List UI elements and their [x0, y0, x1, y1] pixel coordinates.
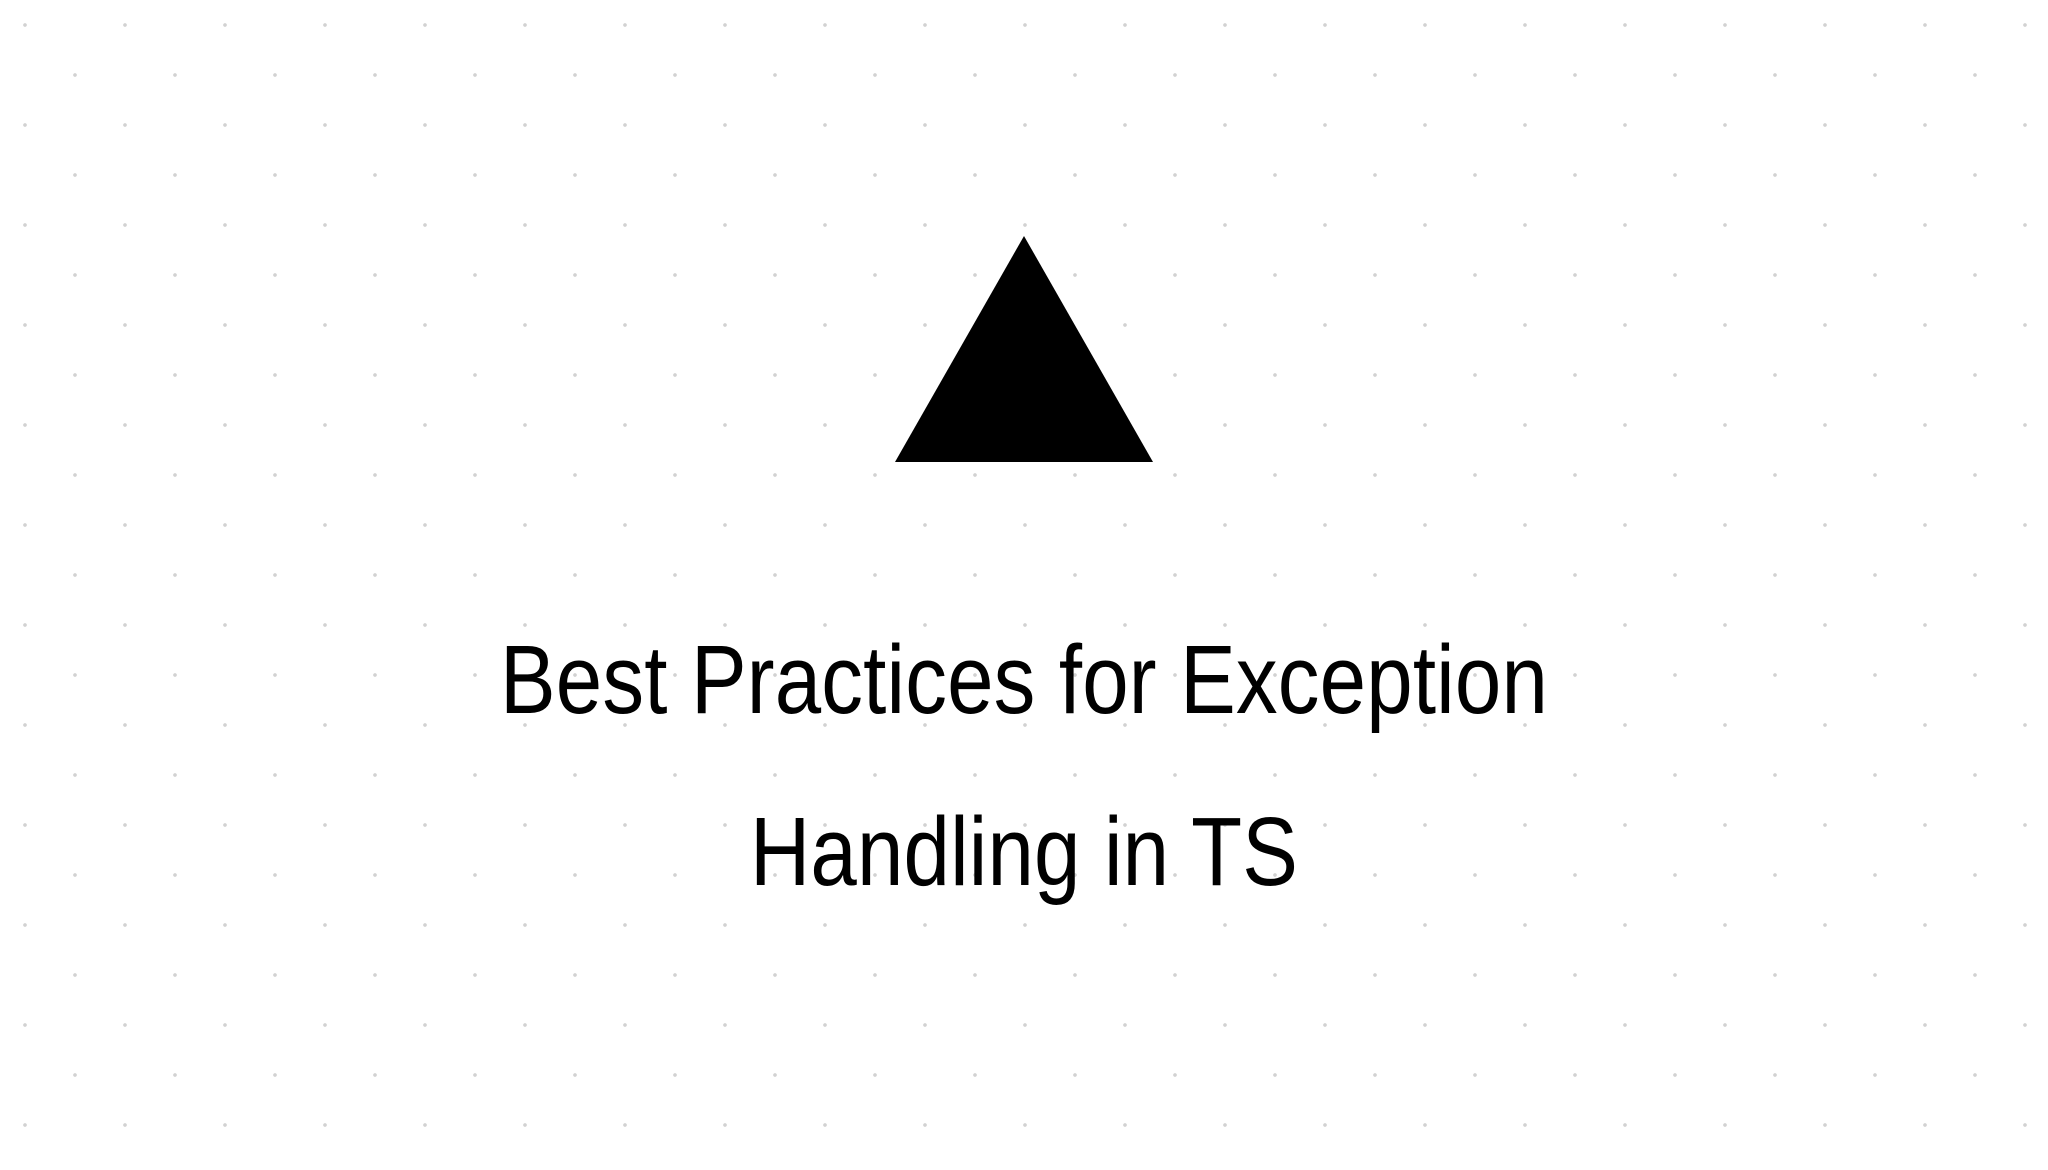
title-slide: Best Practices for Exception Handling in…: [0, 0, 2048, 1170]
page-title: Best Practices for Exception Handling in…: [0, 594, 2048, 938]
slide-content: Best Practices for Exception Handling in…: [0, 0, 2048, 1170]
title-line-2: Handling in TS: [247, 766, 1802, 938]
title-line-1: Best Practices for Exception: [247, 594, 1802, 766]
triangle-icon: [895, 236, 1153, 462]
